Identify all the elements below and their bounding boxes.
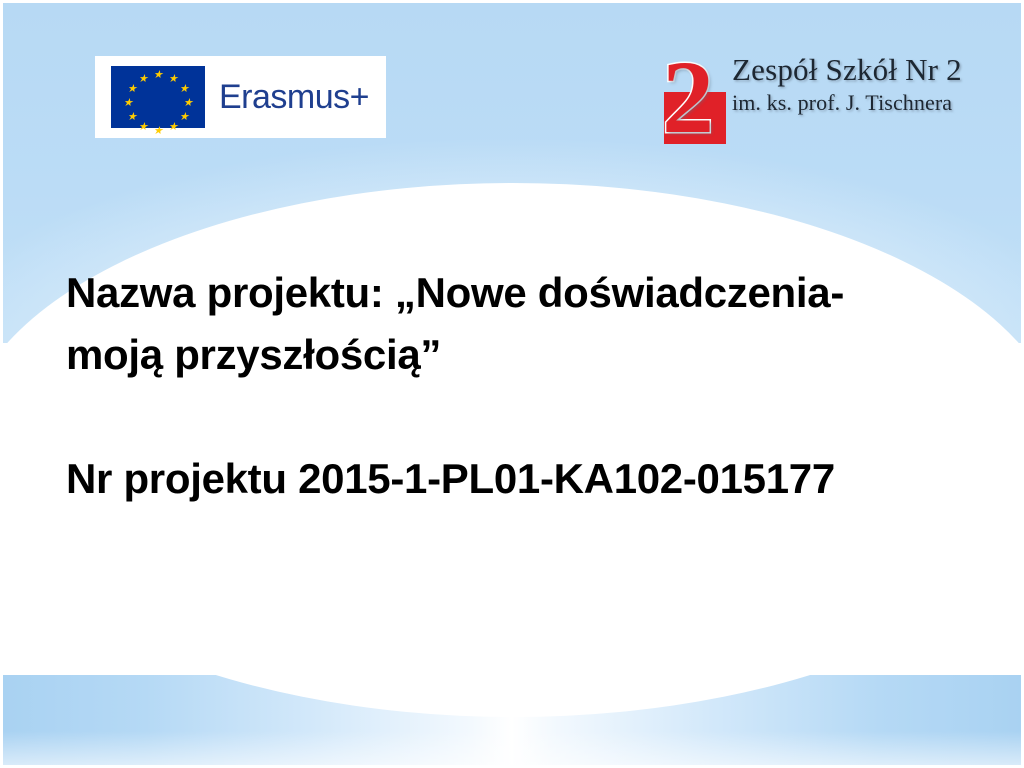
school-patron: im. ks. prof. J. Tischnera — [732, 90, 952, 116]
slide-body-text: Nazwa projektu: „Nowe doświadczenia- moj… — [66, 262, 966, 510]
eu-star-icon: ★ — [183, 98, 193, 109]
school-logo: 2 Zespół Szkół Nr 2 im. ks. prof. J. Tis… — [662, 48, 952, 148]
eu-star-icon: ★ — [179, 112, 189, 123]
erasmus-plus-wordmark: Erasmus+ — [219, 78, 369, 117]
eu-star-icon: ★ — [123, 98, 133, 109]
eu-star-icon: ★ — [153, 70, 163, 81]
eu-star-icon: ★ — [127, 112, 137, 123]
eu-star-icon: ★ — [153, 126, 163, 137]
school-number-glyph: 2 — [662, 46, 714, 150]
european-union-flag-icon: ★ ★ ★ ★ ★ ★ ★ ★ ★ ★ ★ ★ — [111, 66, 205, 128]
eu-star-icon: ★ — [138, 74, 148, 85]
erasmus-plus-logo: ★ ★ ★ ★ ★ ★ ★ ★ ★ ★ ★ ★ Erasmus+ — [95, 56, 386, 138]
school-logo-text: Zespół Szkół Nr 2 im. ks. prof. J. Tisch… — [732, 52, 952, 116]
project-name-line-2: moją przyszłością” — [66, 324, 966, 386]
project-name-line-1: Nazwa projektu: „Nowe doświadczenia- — [66, 262, 966, 324]
eu-star-icon: ★ — [179, 84, 189, 95]
eu-star-icon: ★ — [138, 122, 148, 133]
project-number: Nr projektu 2015-1-PL01-KA102-015177 — [66, 448, 966, 510]
school-name: Zespół Szkół Nr 2 — [732, 52, 952, 88]
paragraph-spacer — [66, 386, 966, 448]
presentation-slide: ★ ★ ★ ★ ★ ★ ★ ★ ★ ★ ★ ★ Erasmus+ 2 Zespó… — [0, 0, 1024, 768]
eu-star-icon: ★ — [168, 74, 178, 85]
eu-star-icon: ★ — [168, 122, 178, 133]
eu-star-icon: ★ — [127, 84, 137, 95]
